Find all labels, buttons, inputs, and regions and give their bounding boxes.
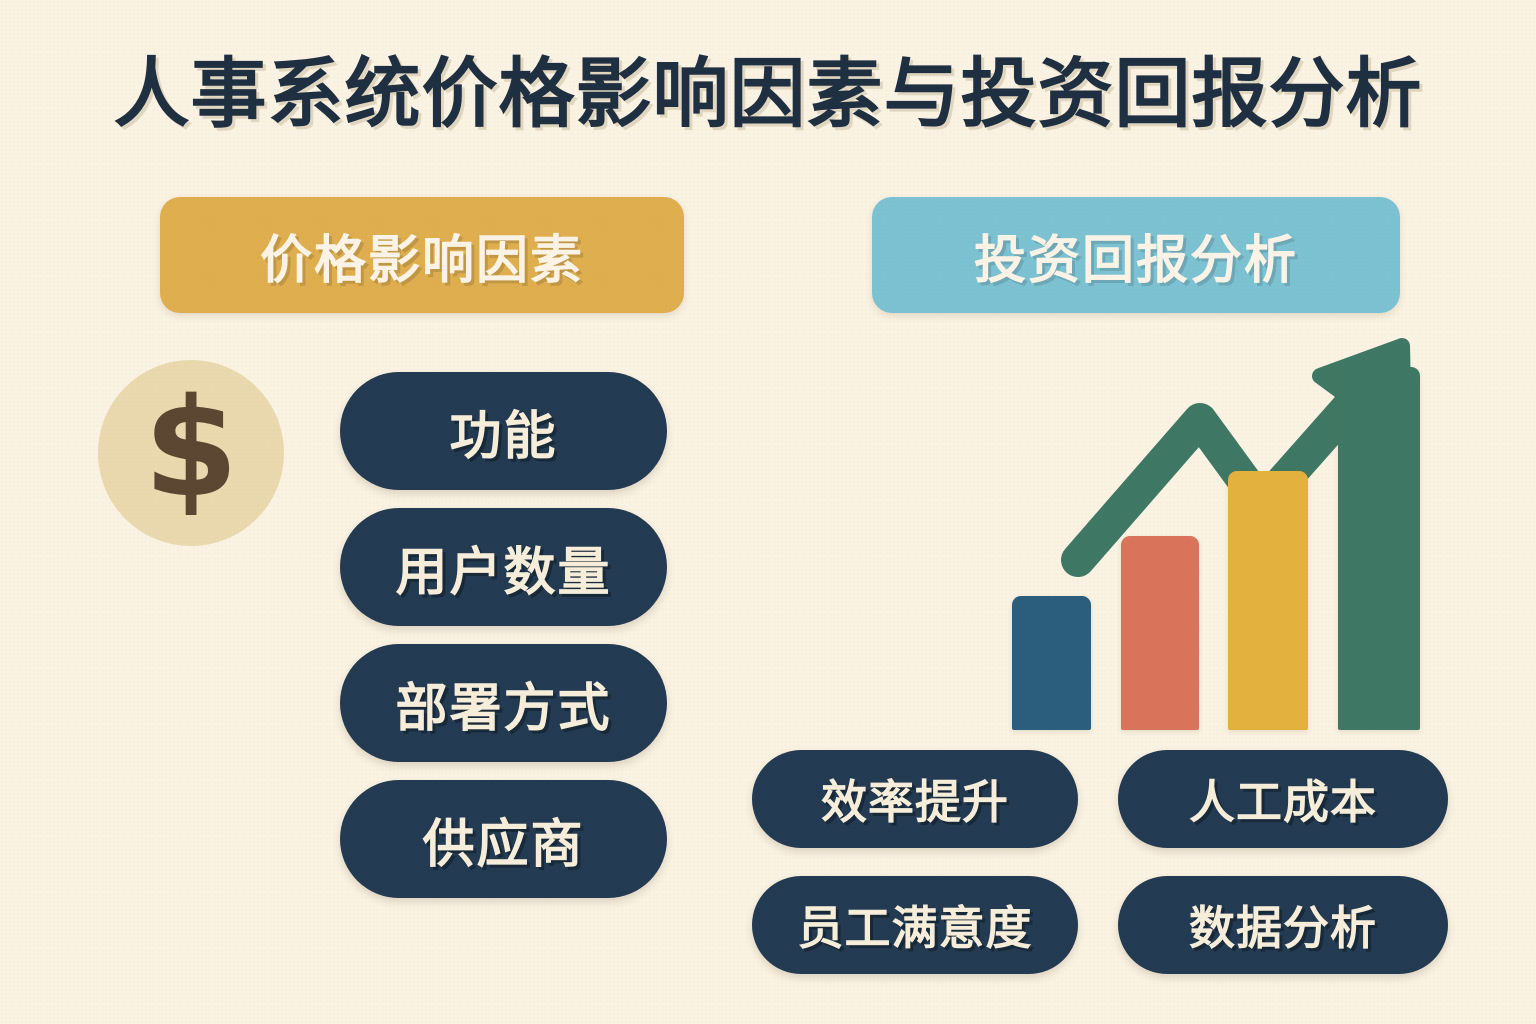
price-factor-pill-users[interactable]: 用户数量 — [340, 508, 667, 626]
bar-4 — [1338, 367, 1420, 730]
bar-2 — [1121, 536, 1199, 730]
roi-label: 效率提升 — [821, 766, 1009, 832]
price-factor-pill-vendor[interactable]: 供应商 — [340, 780, 667, 898]
section-badge-price-label: 价格影响因素 — [260, 218, 584, 293]
section-badge-price: 价格影响因素 — [160, 197, 684, 313]
roi-label: 人工成本 — [1189, 766, 1377, 832]
dollar-icon-glyph: $ — [144, 381, 239, 517]
roi-pill-employee-satisfaction[interactable]: 员工满意度 — [752, 876, 1078, 974]
section-badge-roi-label: 投资回报分析 — [974, 218, 1298, 293]
roi-bar-chart — [990, 330, 1440, 730]
price-factor-label: 功能 — [449, 394, 557, 469]
roi-pill-efficiency[interactable]: 效率提升 — [752, 750, 1078, 848]
roi-pill-labor-cost[interactable]: 人工成本 — [1118, 750, 1448, 848]
infographic-canvas: 人事系统价格影响因素与投资回报分析 价格影响因素 投资回报分析 $ 功能 用户数… — [0, 0, 1536, 1024]
price-factor-pill-deployment[interactable]: 部署方式 — [340, 644, 667, 762]
price-factor-label: 部署方式 — [395, 666, 611, 741]
dollar-icon: $ — [98, 360, 284, 546]
section-badge-roi: 投资回报分析 — [872, 197, 1400, 313]
price-factor-label: 用户数量 — [395, 530, 611, 605]
bar-1 — [1012, 596, 1091, 730]
price-factor-label: 供应商 — [422, 802, 584, 877]
page-title: 人事系统价格影响因素与投资回报分析 — [0, 52, 1536, 138]
roi-label: 数据分析 — [1189, 892, 1377, 958]
bar-3 — [1228, 471, 1308, 730]
roi-label: 员工满意度 — [798, 892, 1033, 958]
price-factor-pill-function[interactable]: 功能 — [340, 372, 667, 490]
roi-pill-data-analysis[interactable]: 数据分析 — [1118, 876, 1448, 974]
